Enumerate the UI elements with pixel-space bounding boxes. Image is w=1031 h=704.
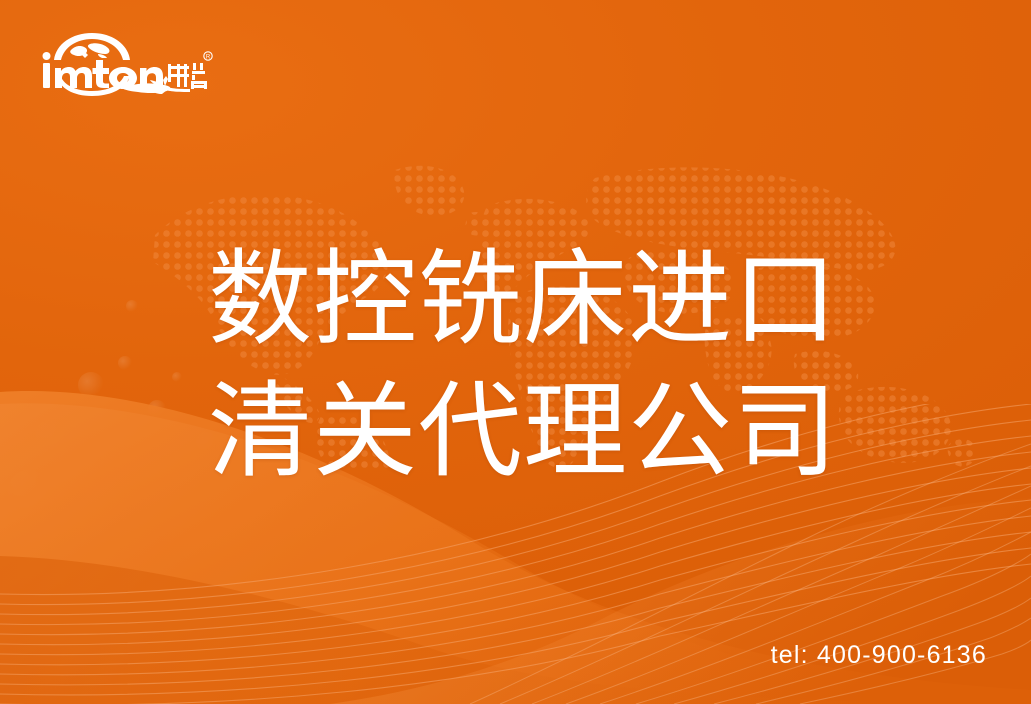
company-logo[interactable]: R [38, 30, 213, 102]
headline-line-2: 清关代理公司 [208, 366, 868, 498]
svg-text:R: R [206, 55, 211, 61]
logo-chinese-characters [163, 64, 190, 92]
trademark-symbol: R [204, 52, 212, 61]
headline-line-1: 数控铣床进口 [208, 234, 868, 366]
contact-phone[interactable]: tel: 400-900-6136 [771, 641, 987, 670]
promotional-banner: R 数控铣床进口 清关代理公司 tel: 400-900-6136 [0, 0, 1031, 704]
page-title: 数控铣床进口 清关代理公司 [208, 234, 868, 498]
